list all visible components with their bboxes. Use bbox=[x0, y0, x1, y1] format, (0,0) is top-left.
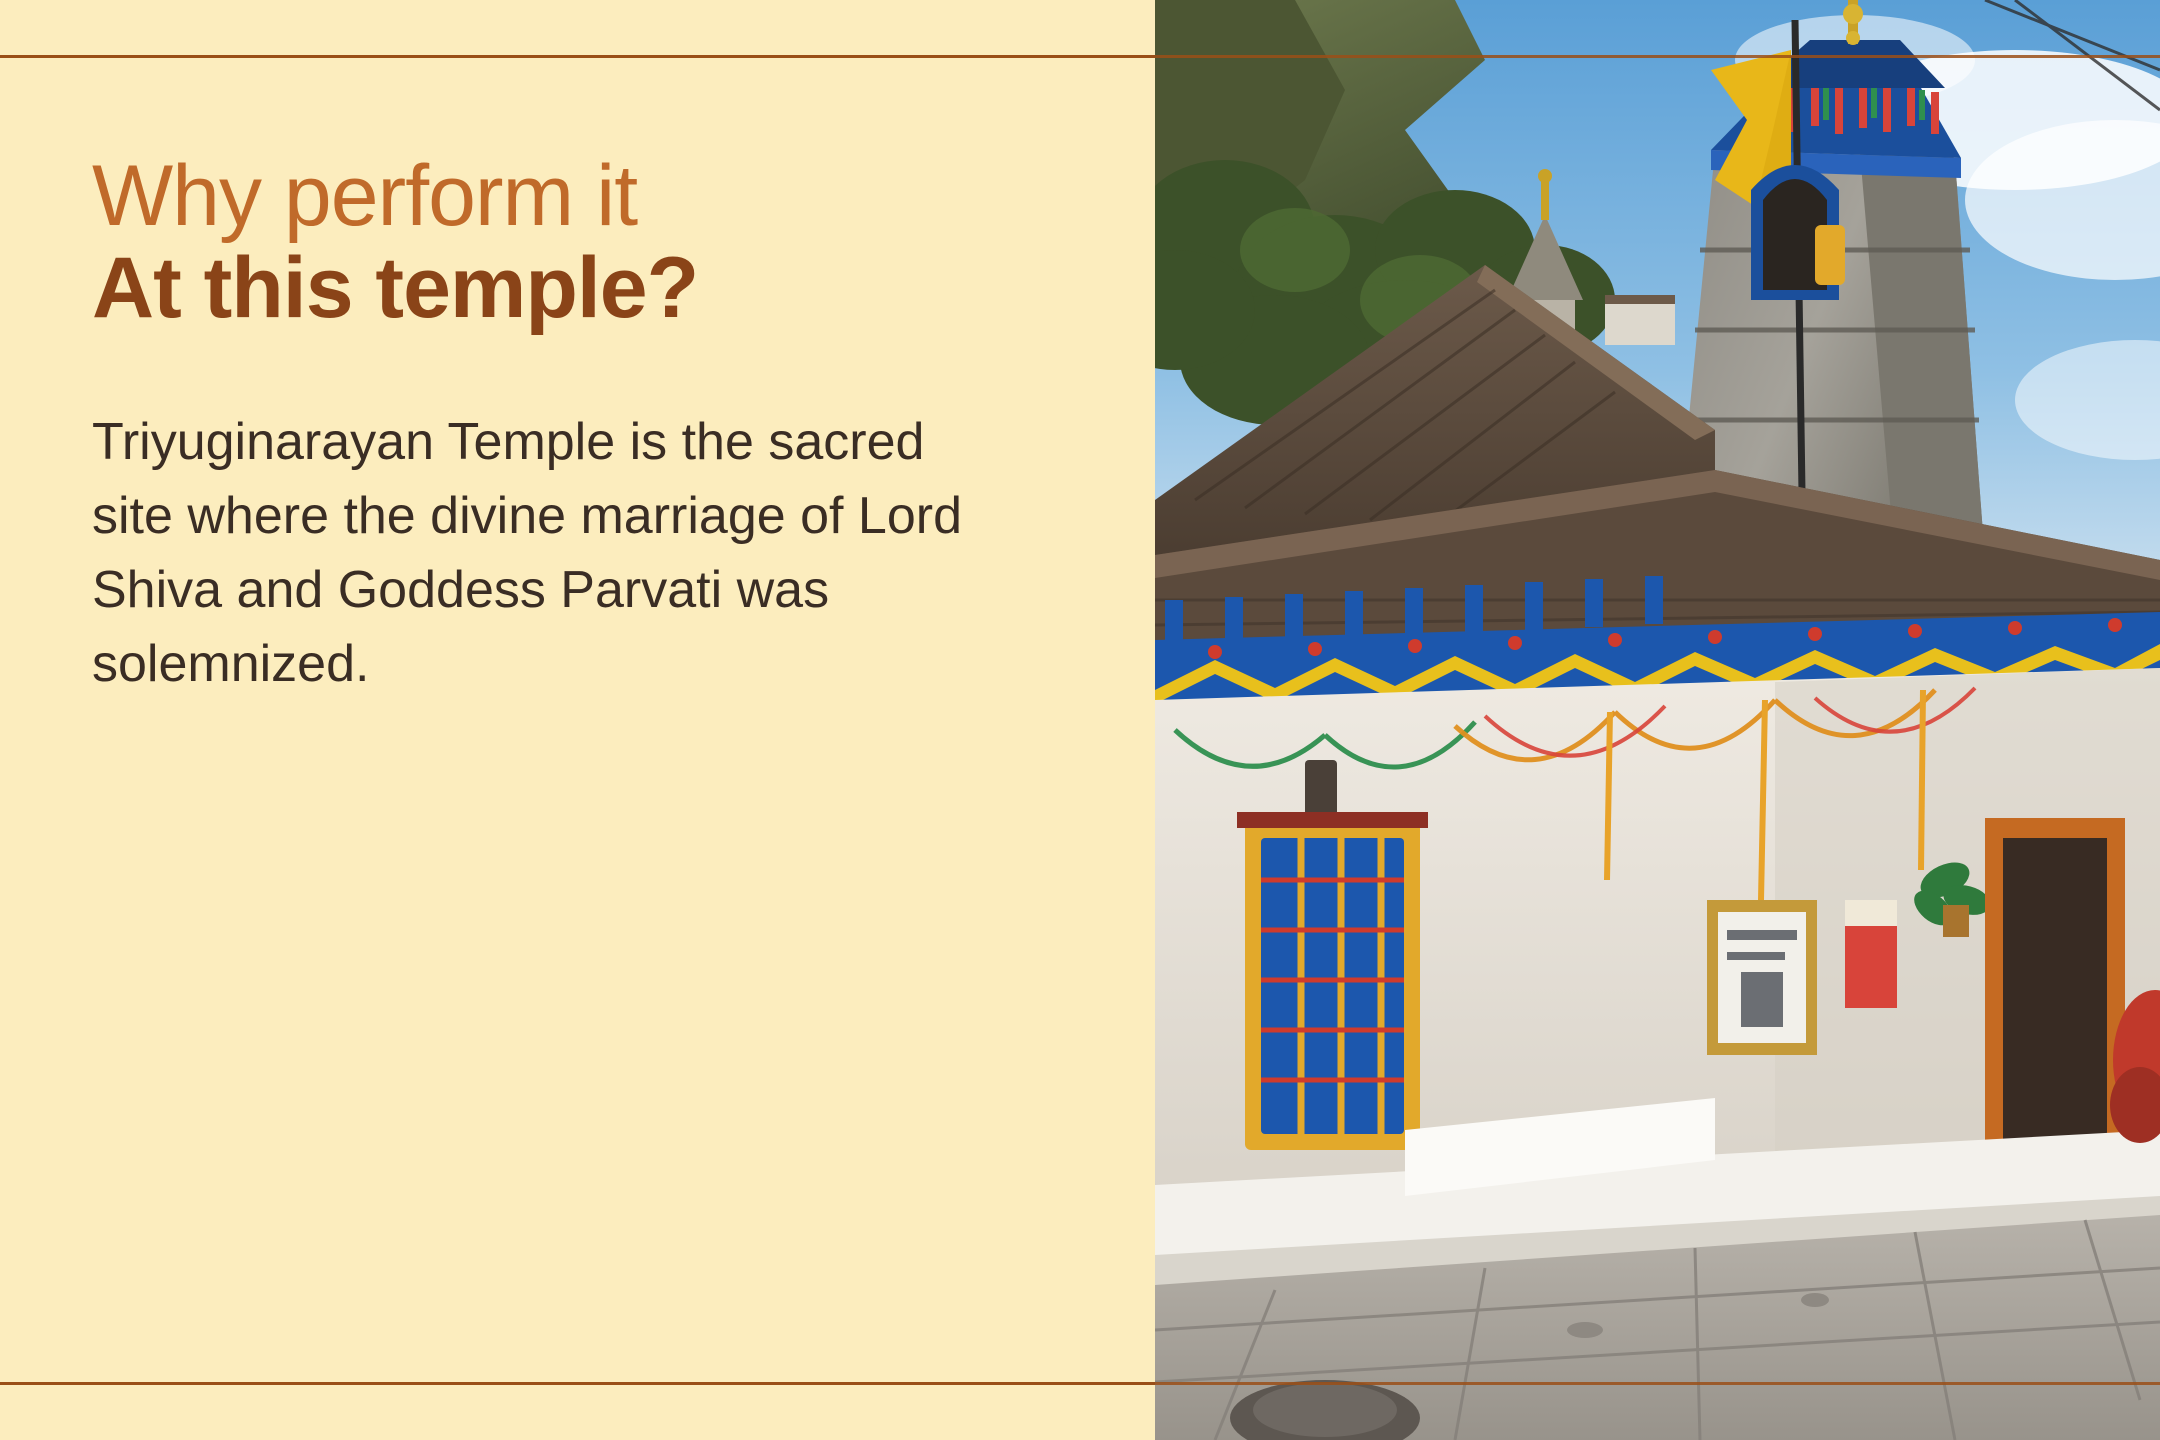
text-block: Why perform it At this temple? Triyugina… bbox=[92, 150, 1052, 701]
slide: Why perform it At this temple? Triyugina… bbox=[0, 0, 2160, 1440]
page-title: Why perform it At this temple? bbox=[92, 150, 1052, 334]
bottom-divider bbox=[0, 1382, 1155, 1385]
image-panel bbox=[1155, 0, 2160, 1440]
body-paragraph: Triyuginarayan Temple is the sacred site… bbox=[92, 406, 1012, 701]
image-top-divider bbox=[1155, 55, 2160, 58]
heading-line-2: At this temple? bbox=[92, 242, 1052, 334]
triyuginarayan-temple-photo bbox=[1155, 0, 2160, 1440]
image-bottom-divider bbox=[1155, 1382, 2160, 1385]
heading-line-1: Why perform it bbox=[92, 150, 1052, 242]
top-divider bbox=[0, 55, 1155, 58]
text-panel: Why perform it At this temple? Triyugina… bbox=[0, 0, 1155, 1440]
